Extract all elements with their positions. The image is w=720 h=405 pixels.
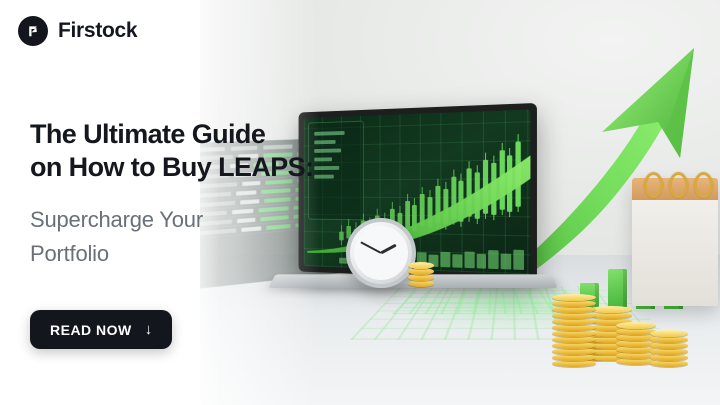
coin-stack (552, 281, 596, 367)
brand-logo[interactable]: Firstock (18, 16, 137, 46)
gold-coin (650, 348, 688, 355)
coin-stack (408, 259, 434, 287)
gold-coin (552, 312, 596, 319)
read-now-label: READ NOW (50, 322, 132, 338)
gold-coin (552, 324, 596, 331)
gold-coin (552, 360, 596, 367)
spiral-ring-icon (644, 172, 663, 198)
gold-coin (552, 330, 596, 337)
gold-coin (650, 330, 688, 337)
volume-bar (476, 254, 486, 269)
gold-coin (552, 306, 596, 313)
volume-bar (452, 255, 462, 268)
headline-line-2: on How to Buy LEAPS: (30, 152, 313, 182)
gold-coin (650, 336, 688, 343)
volume-bar (501, 253, 511, 269)
gold-coin (408, 268, 434, 275)
arrow-up-right-flag-icon (18, 16, 48, 46)
volume-bar (440, 252, 450, 267)
subtitle-line-2: Portfolio (30, 241, 109, 266)
read-now-button[interactable]: READ NOW ↓ (30, 310, 172, 349)
gold-coin (552, 294, 596, 301)
arrow-down-icon: ↓ (145, 322, 153, 337)
subtitle: Supercharge Your Portfolio (30, 203, 360, 271)
gold-coin (552, 342, 596, 349)
headline-line-1: The Ultimate Guide (30, 119, 265, 149)
clock-hour-hand (380, 244, 396, 255)
gold-coin (552, 348, 596, 355)
clock-face (354, 226, 408, 280)
gold-coin (590, 306, 632, 313)
spiral-ring-icon (669, 172, 688, 198)
gold-coin (408, 262, 434, 269)
gold-coin (650, 342, 688, 349)
gold-coin (552, 300, 596, 307)
promo-banner: Firstock The Ultimate Guide on How to Bu… (0, 0, 720, 405)
gold-coin (590, 312, 632, 319)
brand-name: Firstock (58, 19, 137, 43)
gold-coin (408, 280, 434, 287)
gold-coin (552, 336, 596, 343)
spiral-notepad (632, 178, 718, 306)
gold-coin (552, 318, 596, 325)
gold-coin (650, 354, 688, 361)
gold-coin (552, 354, 596, 361)
volume-bar (489, 250, 499, 269)
gold-coin (616, 322, 656, 329)
volume-bar (464, 251, 474, 268)
subtitle-line-1: Supercharge Your (30, 207, 203, 232)
coin-stack (650, 321, 688, 367)
spiral-ring-icon (694, 172, 713, 198)
clock-minute-hand (360, 241, 381, 254)
gold-coin (650, 360, 688, 367)
volume-bar (513, 250, 524, 270)
gold-coin (408, 274, 434, 281)
page-title: The Ultimate Guide on How to Buy LEAPS: (30, 118, 370, 184)
